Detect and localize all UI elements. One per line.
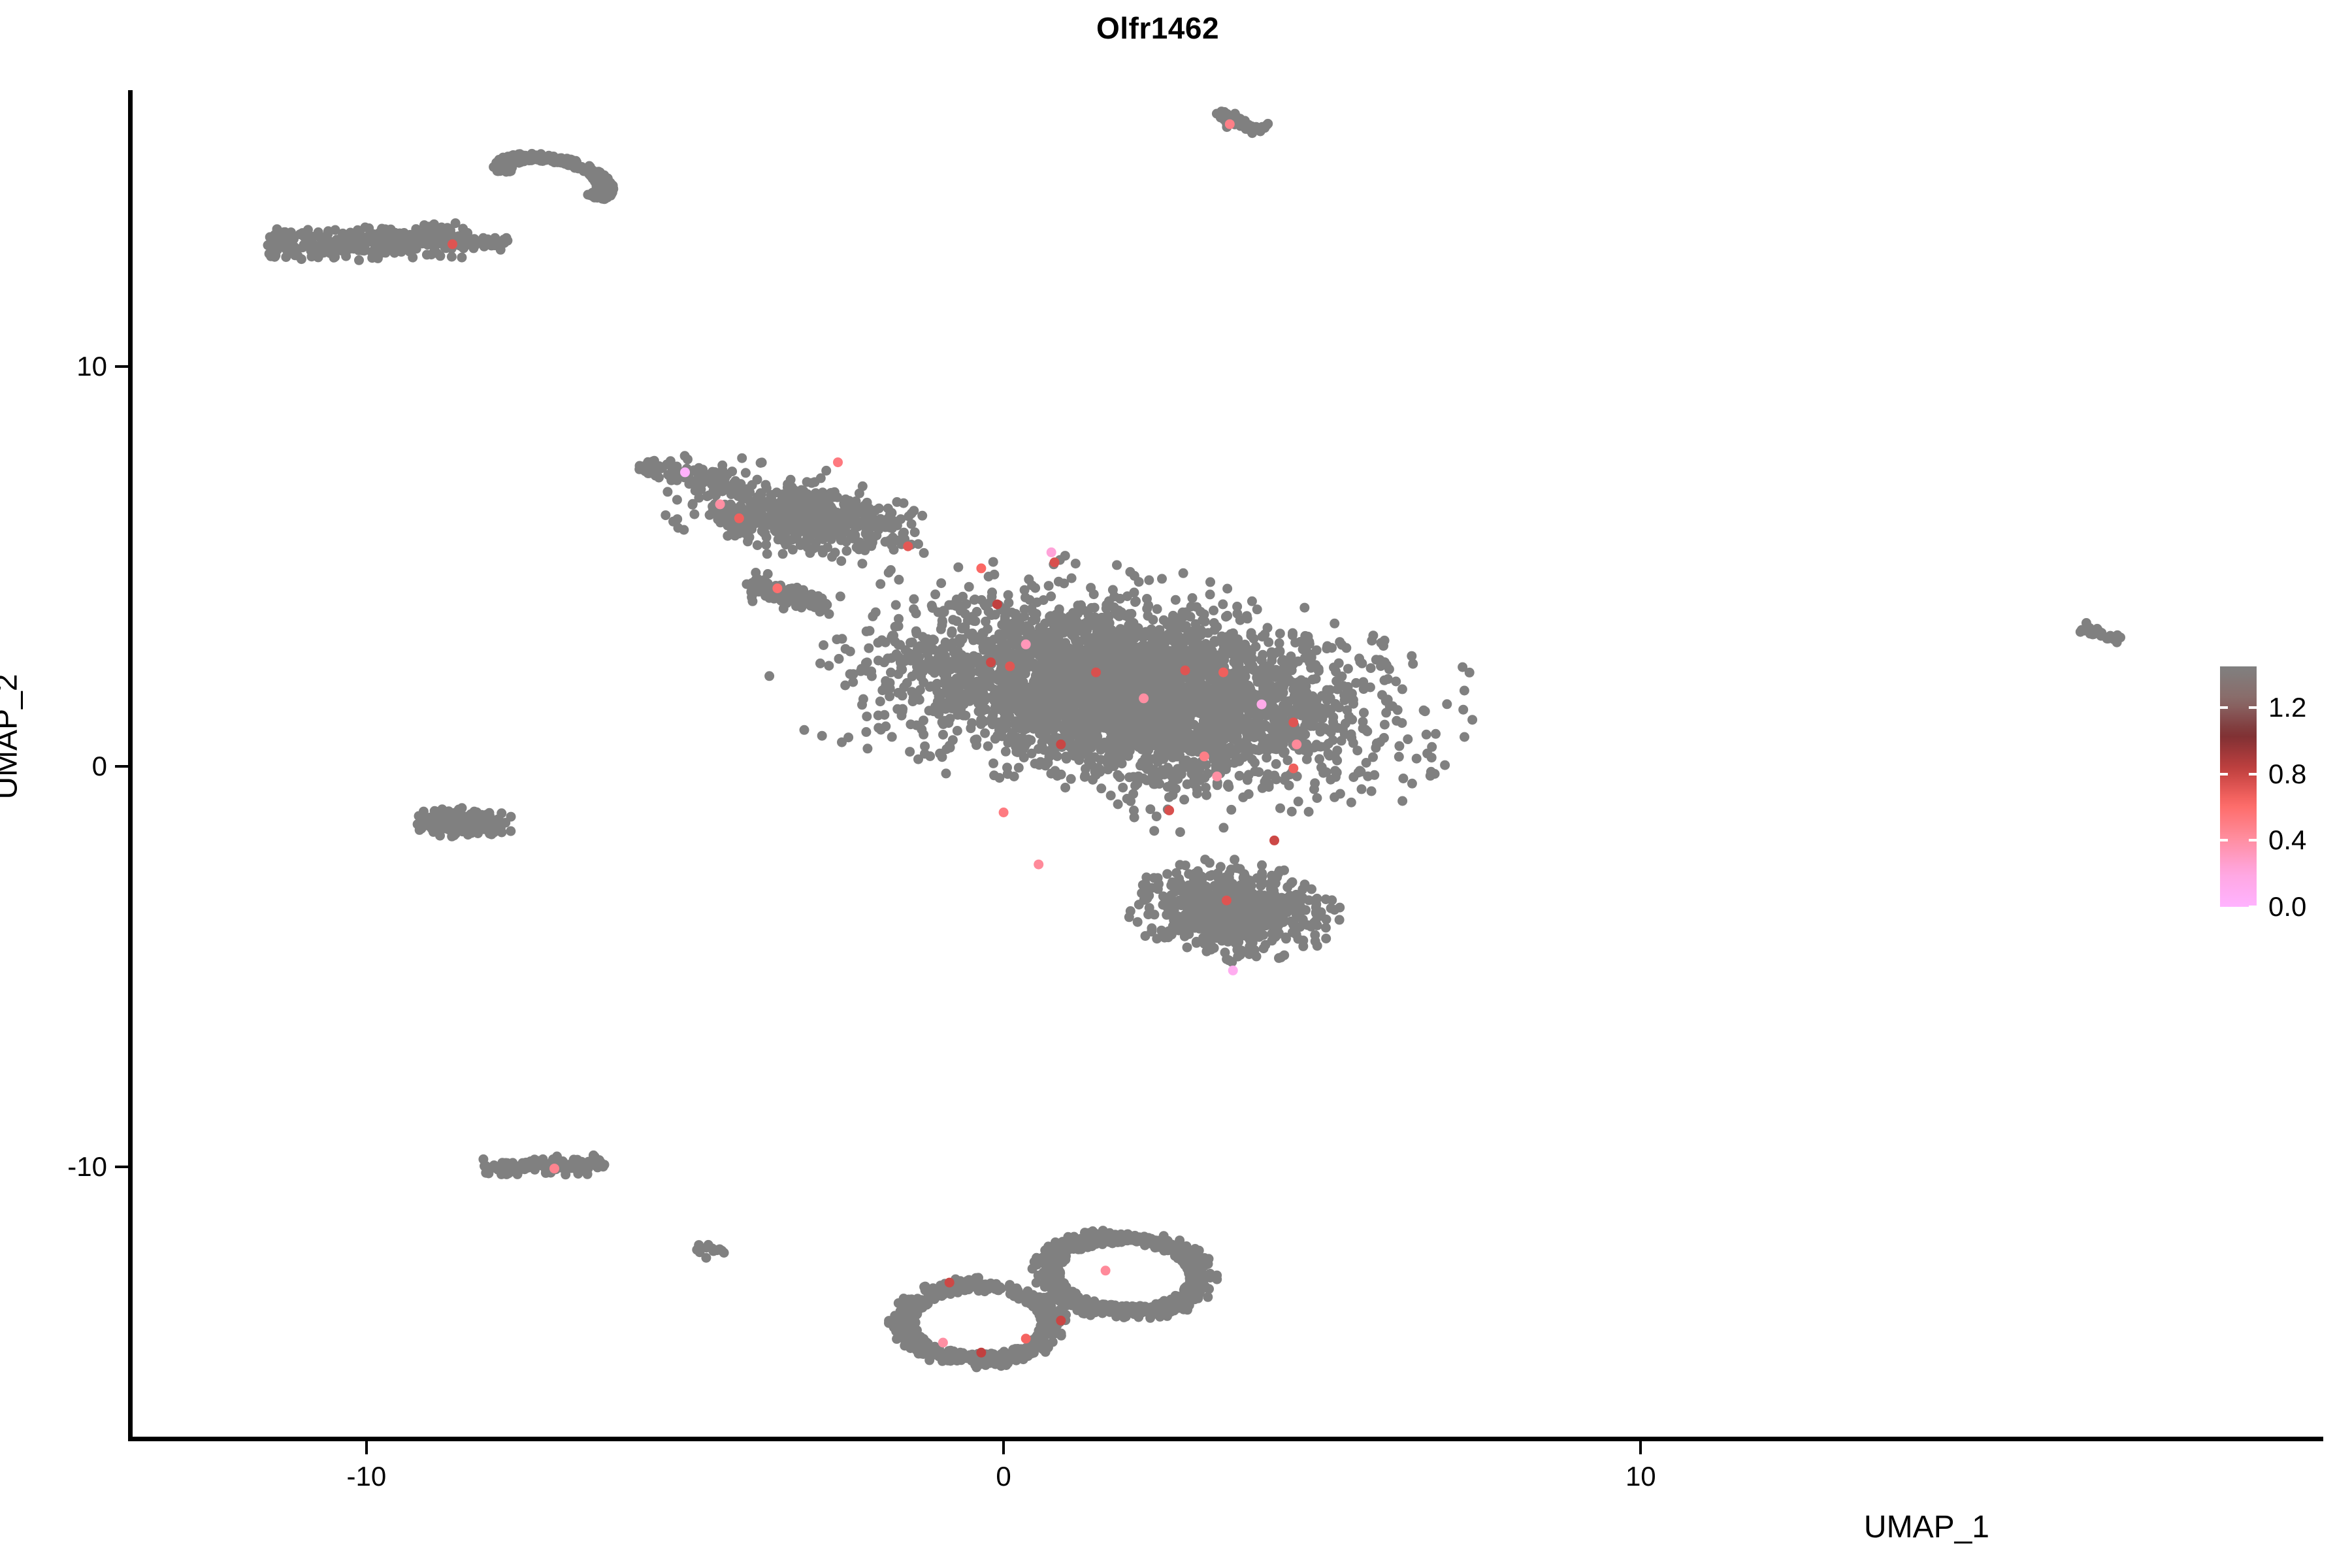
x-tick-mark xyxy=(1002,1441,1005,1454)
data-point xyxy=(945,1278,955,1288)
data-point xyxy=(1056,1316,1066,1326)
data-point xyxy=(1050,557,1060,567)
data-point xyxy=(1091,668,1101,678)
data-point xyxy=(1021,1333,1031,1343)
data-point xyxy=(1212,772,1222,781)
data-point xyxy=(1056,740,1066,749)
data-point xyxy=(1139,693,1149,703)
y-tick-label: 0 xyxy=(92,751,107,782)
y-tick-label: -10 xyxy=(67,1151,107,1183)
colorbar-tick-label: 0.8 xyxy=(2268,759,2306,790)
data-point xyxy=(448,239,457,249)
colorbar-tick-label: 0.4 xyxy=(2268,825,2306,856)
data-point xyxy=(772,583,782,593)
data-point xyxy=(1225,120,1235,129)
data-point xyxy=(999,808,1009,817)
x-axis-label-text: UMAP_1 xyxy=(1864,1509,1989,1545)
x-axis-label: UMAP_1 xyxy=(0,1509,2189,1545)
data-point xyxy=(992,600,1002,610)
data-point xyxy=(976,1348,986,1358)
colorbar-tick-mark xyxy=(2220,706,2228,709)
y-tick-mark xyxy=(115,365,128,368)
data-point xyxy=(903,542,913,551)
data-point xyxy=(1034,860,1043,870)
data-point xyxy=(1222,896,1232,906)
data-point xyxy=(680,467,690,477)
y-tick-label: 10 xyxy=(76,351,107,382)
colorbar-tick-label: 0.0 xyxy=(2268,891,2306,923)
data-point xyxy=(1047,547,1056,557)
colorbar-tick-label: 1.2 xyxy=(2268,692,2306,723)
feature-plot-figure: Olfr1462 -10010 100-10 UMAP_1 UMAP_2 0.0… xyxy=(0,0,2352,1568)
plot-title-text: Olfr1462 xyxy=(1096,11,1219,45)
data-point xyxy=(549,1164,559,1173)
colorbar-legend: 0.00.40.81.2 xyxy=(2220,662,2351,911)
colorbar-tick-mark xyxy=(2249,706,2257,709)
x-tick-label: 0 xyxy=(996,1461,1011,1492)
colorbar-gradient xyxy=(2220,666,2257,907)
y-axis-label-text: UMAP_2 xyxy=(0,674,24,799)
y-tick-mark xyxy=(115,1166,128,1168)
y-axis-line xyxy=(128,90,133,1441)
scatter-svg xyxy=(131,90,2189,1439)
data-point xyxy=(986,657,996,667)
x-tick-mark xyxy=(365,1441,368,1454)
x-tick-label: -10 xyxy=(346,1461,386,1492)
data-point xyxy=(1269,836,1279,845)
data-point xyxy=(1218,668,1228,678)
x-tick-label: 10 xyxy=(1625,1461,1656,1492)
data-point xyxy=(1228,966,1238,975)
page-title: Olfr1462 xyxy=(0,10,2352,46)
data-point xyxy=(1292,740,1301,749)
y-tick-mark xyxy=(115,765,128,768)
data-point xyxy=(938,1338,948,1348)
non-expressing-points xyxy=(263,106,2126,1372)
data-point xyxy=(1005,661,1015,671)
colorbar-tick-mark xyxy=(2249,773,2257,776)
data-point xyxy=(734,514,744,523)
data-point xyxy=(1288,764,1298,774)
x-tick-mark xyxy=(1639,1441,1642,1454)
colorbar-tick-mark xyxy=(2220,773,2228,776)
data-point xyxy=(1181,666,1190,676)
data-point xyxy=(1200,751,1209,761)
data-point xyxy=(1288,717,1298,727)
colorbar-tick-mark xyxy=(2249,839,2257,841)
data-point xyxy=(1257,700,1267,710)
scatter-panel xyxy=(131,90,2189,1439)
data-point xyxy=(1101,1266,1111,1275)
colorbar-tick-mark xyxy=(2220,839,2228,841)
data-point xyxy=(833,457,843,467)
x-axis-line xyxy=(128,1437,2323,1441)
colorbar-tick-mark xyxy=(2249,906,2257,908)
data-point xyxy=(976,563,986,573)
y-axis-label: UMAP_2 xyxy=(0,410,25,1064)
data-point xyxy=(1021,640,1031,649)
data-point xyxy=(1164,806,1174,815)
data-point xyxy=(715,499,725,509)
